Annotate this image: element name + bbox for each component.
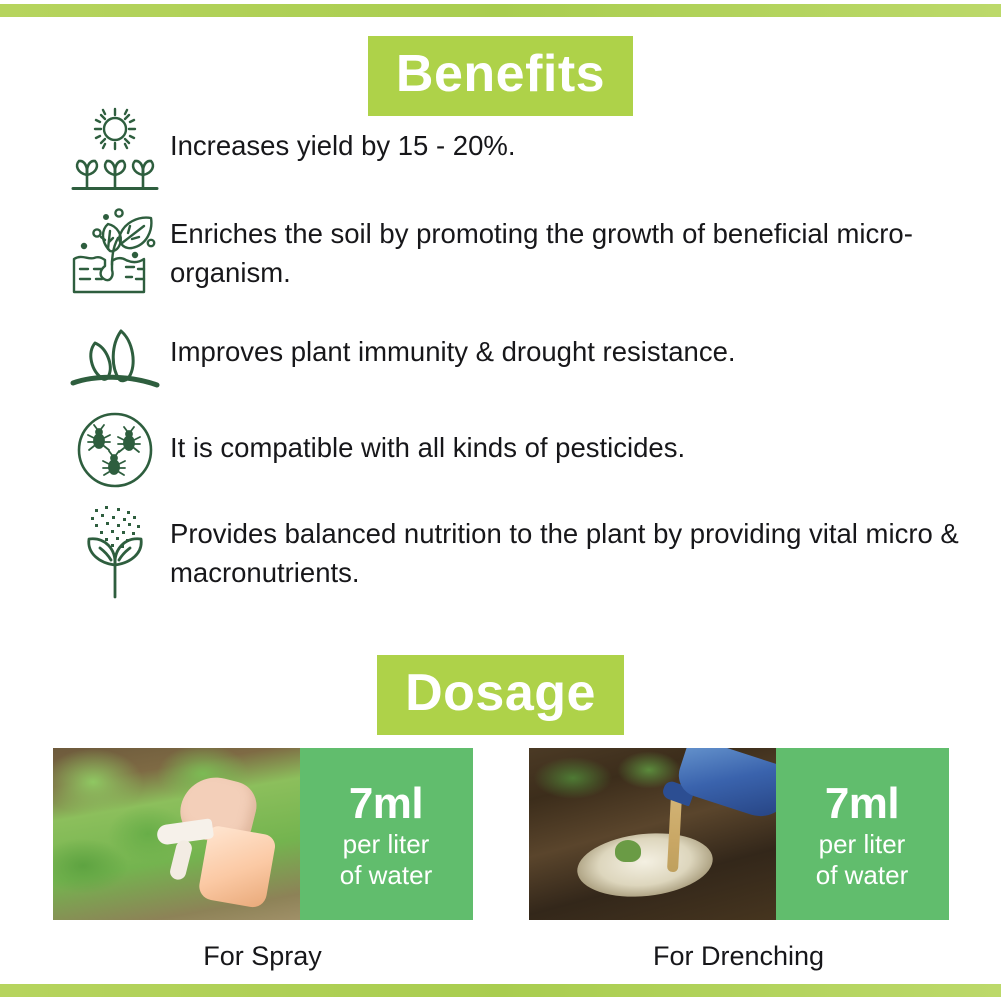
insects-in-circle-icon [60, 404, 170, 496]
product-benefits-infographic: Benefits [0, 0, 1001, 1001]
hand-spraying-plants-photo [53, 748, 300, 920]
top-accent-bar [0, 4, 1001, 17]
benefit-item: Provides balanced nutrition to the plant… [60, 500, 960, 604]
watering-can-drenching-soil-photo [529, 748, 776, 920]
dosage-heading-wrap: Dosage [0, 655, 1001, 735]
dosage-unit-line-1: per liter [819, 829, 906, 860]
benefit-item: Enriches the soil by promoting the growt… [60, 200, 960, 304]
dosage-caption: For Spray [53, 941, 473, 972]
benefit-text: Increases yield by 15 - 20%. [170, 100, 960, 165]
two-leaves-on-ground-icon [60, 308, 170, 400]
benefit-text: Provides balanced nutrition to the plant… [170, 500, 960, 592]
benefit-text: It is compatible with all kinds of pesti… [170, 404, 960, 467]
dosage-caption: For Drenching [529, 941, 949, 972]
dosage-card-spray: 7ml per liter of water For Spray [53, 748, 473, 972]
benefit-item: Improves plant immunity & drought resist… [60, 308, 960, 400]
dosage-heading: Dosage [377, 655, 624, 735]
sun-over-seedlings-icon [60, 100, 170, 196]
dosage-card-drenching: 7ml per liter of water For Drenching [529, 748, 949, 972]
plant-in-soil-microorganism-icon [60, 200, 170, 304]
benefit-text: Enriches the soil by promoting the growt… [170, 200, 960, 292]
dosage-amount: 7ml [825, 782, 899, 826]
dosage-amount: 7ml [349, 782, 423, 826]
benefit-item: Increases yield by 15 - 20%. [60, 100, 960, 196]
dosage-panel: 7ml per liter of water [776, 748, 949, 920]
sprout-with-nutrients-icon [60, 500, 170, 604]
bottom-accent-bar [0, 984, 1001, 997]
benefit-item: It is compatible with all kinds of pesti… [60, 404, 960, 496]
dosage-panel: 7ml per liter of water [300, 748, 473, 920]
dosage-unit-line-2: of water [816, 860, 909, 891]
dosage-unit-line-2: of water [340, 860, 433, 891]
benefits-list: Increases yield by 15 - 20%. [60, 100, 960, 608]
dosage-cards: 7ml per liter of water For Spray 7ml p [0, 748, 1001, 972]
dosage-unit-line-1: per liter [343, 829, 430, 860]
benefit-text: Improves plant immunity & drought resist… [170, 308, 960, 371]
